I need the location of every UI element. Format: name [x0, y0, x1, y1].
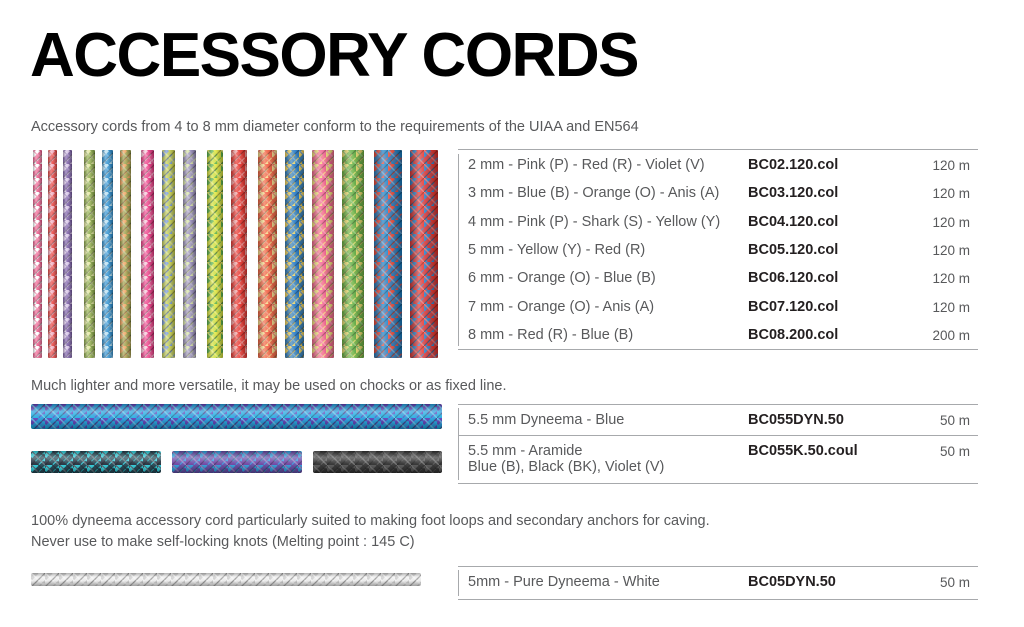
cell-reference: BC05DYN.50	[748, 574, 836, 590]
bottom-paragraph-line-2: Never use to make self-locking knots (Me…	[31, 532, 710, 553]
cell-description: 6 mm - Orange (O) - Blue (B)	[468, 270, 656, 286]
table-rule-bottom	[458, 483, 978, 484]
cell-reference: BC08.200.col	[748, 327, 838, 343]
table-rule-top	[458, 149, 978, 150]
cell-length: 120 m	[932, 271, 970, 286]
cell-reference: BC055DYN.50	[748, 412, 844, 428]
table-vertical-rule	[458, 154, 459, 346]
cell-length: 120 m	[932, 186, 970, 201]
cord-aramide-violet	[172, 451, 302, 473]
cell-reference: BC03.120.col	[748, 185, 838, 201]
cell-description: 2 mm - Pink (P) - Red (R) - Violet (V)	[468, 157, 705, 173]
table-rule-divider	[458, 435, 978, 436]
cell-length: 50 m	[940, 444, 970, 459]
table-rule-bottom	[458, 599, 978, 600]
pure-dyneema-table: 5mm - Pure Dyneema - WhiteBC05DYN.5050 m	[458, 566, 978, 600]
table-vertical-rule	[458, 570, 459, 596]
cell-length: 120 m	[932, 158, 970, 173]
cord-aramide-black	[313, 451, 442, 473]
cell-reference: BC06.120.col	[748, 270, 838, 286]
cord-55mm-dyneema-blue	[31, 404, 442, 429]
table-rule-top	[458, 566, 978, 567]
cell-reference: BC05.120.col	[748, 242, 838, 258]
cord-5mm-pure-dyneema-white	[31, 573, 421, 586]
cell-description: 5.5 mm Dyneema - Blue	[468, 412, 624, 428]
cell-description: 5.5 mm - Aramide Blue (B), Black (BK), V…	[468, 443, 664, 475]
bottom-paragraph-line-1: 100% dyneema accessory cord particularly…	[31, 511, 710, 532]
cell-reference: BC04.120.col	[748, 214, 838, 230]
cell-description: 5mm - Pure Dyneema - White	[468, 574, 660, 590]
cell-reference: BC07.120.col	[748, 299, 838, 315]
cell-description: 3 mm - Blue (B) - Orange (O) - Anis (A)	[468, 185, 719, 201]
cell-description: 8 mm - Red (R) - Blue (B)	[468, 327, 633, 343]
cell-length: 50 m	[940, 413, 970, 428]
bottom-paragraph: 100% dyneema accessory cord particularly…	[31, 511, 710, 553]
cell-length: 120 m	[932, 215, 970, 230]
cell-description: 5 mm - Yellow (Y) - Red (R)	[468, 242, 645, 258]
catalog-page: ACCESSORY CORDS Accessory cords from 4 t…	[0, 0, 1024, 627]
main-product-table: 2 mm - Pink (P) - Red (R) - Violet (V)BC…	[458, 149, 978, 350]
dyneema-aramide-table: 5.5 mm Dyneema - BlueBC055DYN.5050 m5.5 …	[458, 404, 978, 484]
cell-length: 120 m	[932, 300, 970, 315]
cell-length: 120 m	[932, 243, 970, 258]
table-vertical-rule	[458, 408, 459, 480]
table-rule-top	[458, 404, 978, 405]
cell-length: 200 m	[932, 328, 970, 343]
cell-reference: BC02.120.col	[748, 157, 838, 173]
cell-length: 50 m	[940, 575, 970, 590]
cell-description: 7 mm - Orange (O) - Anis (A)	[468, 299, 654, 315]
table-rule-bottom	[458, 349, 978, 350]
cell-reference: BC055K.50.coul	[748, 443, 858, 459]
cord-aramide-blue	[31, 451, 161, 473]
cell-description: 4 mm - Pink (P) - Shark (S) - Yellow (Y)	[468, 214, 720, 230]
